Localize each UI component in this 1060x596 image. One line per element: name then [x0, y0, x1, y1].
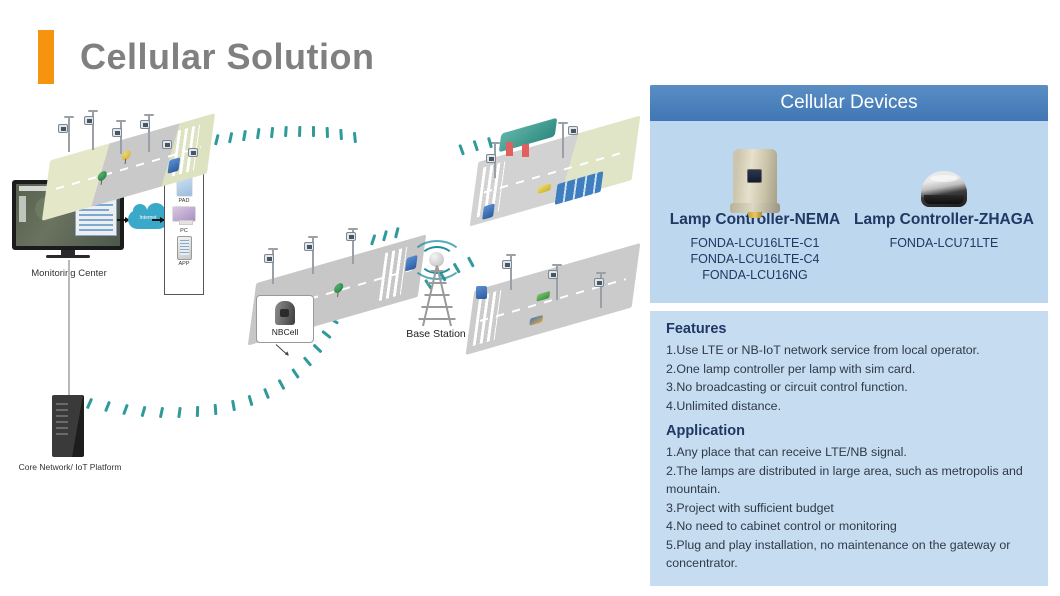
lamp-controller-icon	[594, 278, 604, 287]
nbcell-callout: NBCell	[256, 295, 314, 343]
roadside-cabinet	[476, 286, 487, 299]
features-heading: Features	[666, 321, 1034, 337]
network-topology-diagram: Monitoring Center Internet PAD PC APP Co…	[0, 110, 640, 530]
application-item: 3.Project with sufficient budget	[666, 499, 1034, 518]
cellular-devices-title: Cellular Devices	[780, 92, 917, 114]
pc-icon	[172, 206, 196, 222]
lamp-controller-icon	[162, 140, 172, 149]
internet-label: Internet	[128, 215, 168, 221]
lamp-controller-icon	[346, 232, 356, 241]
features-list: 1.Use LTE or NB-IoT network service from…	[666, 341, 1034, 415]
lamp-pole	[68, 118, 70, 152]
device-model: FONDA-LCU16LTE-C1	[660, 235, 850, 251]
application-item: 5.Plug and play installation, no mainten…	[666, 536, 1034, 573]
lamp-controller-icon	[264, 254, 274, 263]
device-model: FONDA-LCU16LTE-C4	[660, 251, 850, 267]
nbcell-pointer-arrow	[276, 344, 289, 355]
lamp-pole	[120, 122, 122, 154]
core-network-label: Core Network/ IoT Platform	[10, 462, 130, 472]
feature-item: 4.Unlimited distance.	[666, 397, 1034, 416]
lamp-controller-icon	[486, 154, 496, 163]
lamp-controller-icon	[548, 270, 558, 279]
pc-label: PC	[172, 228, 196, 234]
lamp-controller-nema-icon	[733, 149, 777, 207]
pad-label: PAD	[176, 198, 193, 204]
device-card-zhaga: Lamp Controller-ZHAGA FONDA-LCU71LTE	[850, 121, 1038, 251]
lamp-controller-icon	[188, 148, 198, 157]
lamp-controller-icon	[568, 126, 578, 135]
feature-item: 2.One lamp controller per lamp with sim …	[666, 360, 1034, 379]
monitor-to-core-link	[68, 260, 70, 400]
nbcell-label: NBCell	[272, 327, 298, 337]
lamp-controller-icon	[58, 124, 68, 133]
device-card-nema: Lamp Controller-NEMA FONDA-LCU16LTE-C1 F…	[660, 121, 850, 283]
lamp-controller-icon	[84, 116, 94, 125]
gas-pump	[522, 144, 529, 157]
app-icon	[177, 236, 192, 260]
cellular-devices-panel: Cellular Devices Lamp Controller-NEMA FO…	[650, 85, 1048, 303]
client-device-app: APP	[177, 236, 192, 267]
gas-pump	[506, 142, 513, 156]
lamp-pole	[562, 124, 564, 158]
features-application-panel: Features 1.Use LTE or NB-IoT network ser…	[650, 311, 1048, 586]
application-list: 1.Any place that can receive LTE/NB sign…	[666, 443, 1034, 573]
page-title: Cellular Solution	[38, 30, 375, 84]
title-accent-bar	[38, 30, 54, 84]
page-title-text: Cellular Solution	[80, 36, 375, 78]
client-device-box: PAD PC APP	[164, 170, 204, 295]
cellular-devices-header: Cellular Devices	[650, 85, 1048, 121]
application-item: 4.No need to cabinet control or monitori…	[666, 517, 1034, 536]
lamp-controller-icon	[112, 128, 122, 137]
app-label: APP	[177, 261, 192, 267]
device-model: FONDA-LCU71LTE	[850, 235, 1038, 251]
application-item: 2.The lamps are distributed in large are…	[666, 462, 1034, 499]
feature-item: 1.Use LTE or NB-IoT network service from…	[666, 341, 1034, 360]
lamp-controller-icon	[304, 242, 314, 251]
lamp-controller-icon	[502, 260, 512, 269]
base-station-label: Base Station	[378, 328, 494, 340]
client-device-pc: PC	[172, 206, 196, 234]
application-item: 1.Any place that can receive LTE/NB sign…	[666, 443, 1034, 462]
internet-cloud-icon: Internet	[128, 210, 168, 230]
base-station-icon: Base Station	[396, 238, 476, 350]
nbcell-device-icon	[275, 301, 295, 325]
application-heading: Application	[666, 423, 1034, 439]
device-model: FONDA-LCU16NG	[660, 267, 850, 283]
lamp-controller-zhaga-icon	[921, 171, 967, 207]
core-network-server-icon	[52, 395, 84, 457]
lamp-controller-icon	[140, 120, 150, 129]
feature-item: 3.No broadcasting or circuit control fun…	[666, 378, 1034, 397]
device-title-zhaga: Lamp Controller-ZHAGA	[850, 211, 1038, 229]
